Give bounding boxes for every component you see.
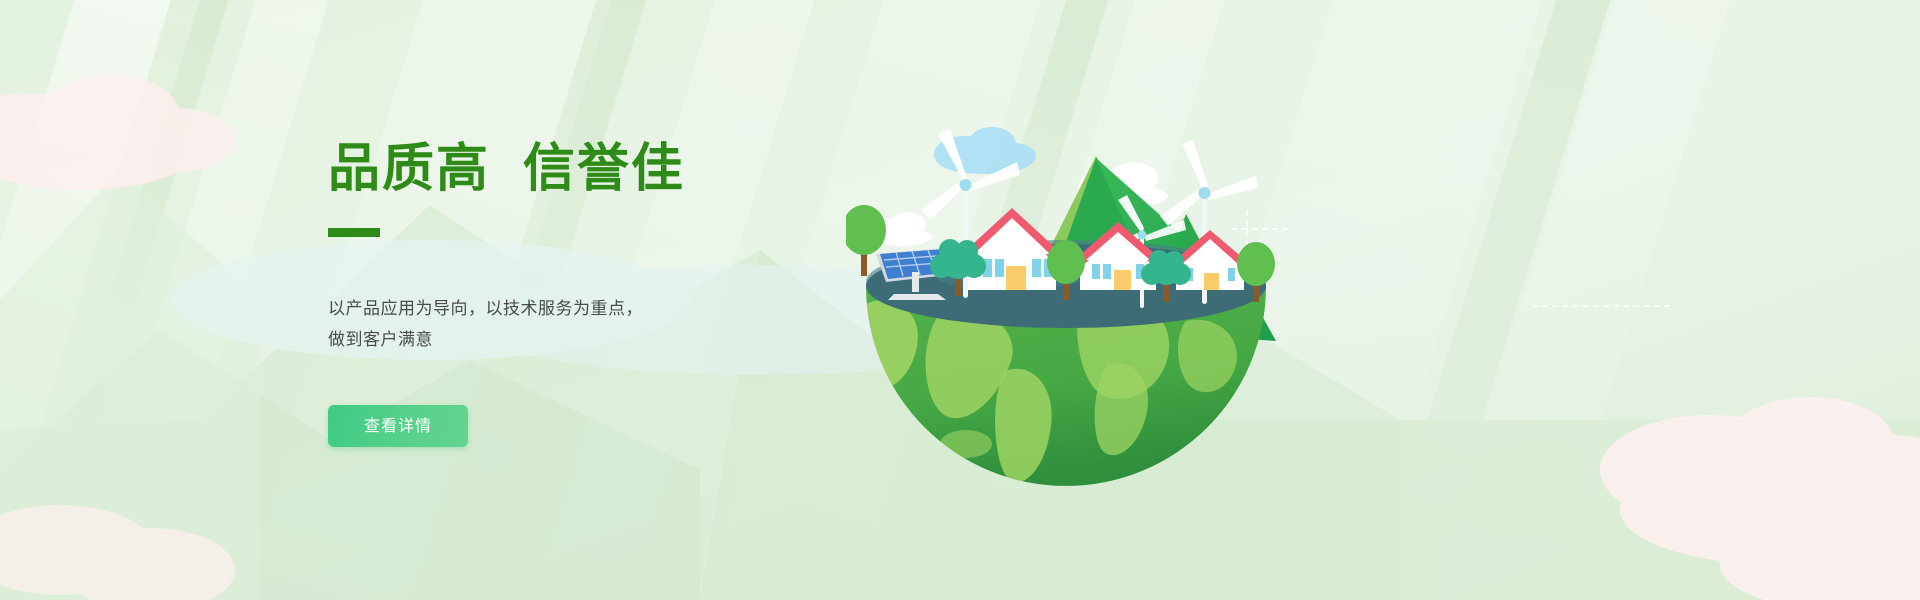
subtitle-line-2: 做到客户满意 <box>328 324 848 355</box>
view-details-button[interactable]: 查看详情 <box>328 405 468 447</box>
hero-subtitle: 以产品应用为导向，以技术服务为重点， 做到客户满意 <box>328 293 848 355</box>
cloud-top-left <box>0 40 300 200</box>
eco-village-illustration <box>846 96 1286 496</box>
cloud-bottom-left <box>0 440 260 600</box>
cloud-bottom-right <box>1560 330 1920 600</box>
hero-content: 品质高 信誉佳 以产品应用为导向，以技术服务为重点， 做到客户满意 查看详情 <box>328 140 848 447</box>
title-underline-rule <box>328 228 380 237</box>
page-title: 品质高 信誉佳 <box>328 140 848 200</box>
tree-round-left <box>846 205 886 276</box>
subtitle-line-1: 以产品应用为导向，以技术服务为重点， <box>328 293 848 324</box>
dashed-line-horizontal <box>1532 305 1670 307</box>
hero-banner: 品质高 信誉佳 以产品应用为导向，以技术服务为重点， 做到客户满意 查看详情 <box>0 0 1920 600</box>
